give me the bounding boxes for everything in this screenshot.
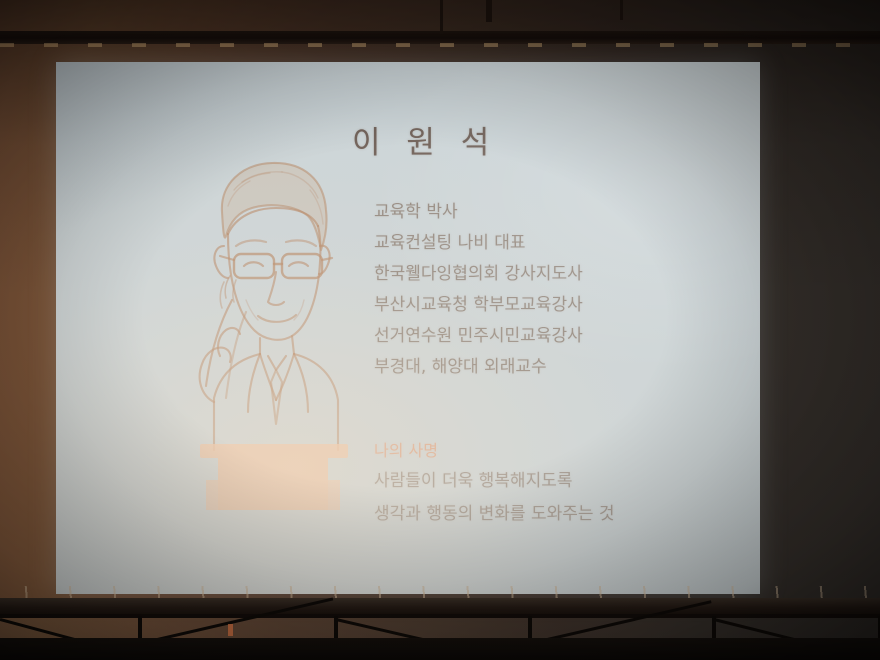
truss-top-rail <box>0 614 880 618</box>
mission-line: 사람들이 더욱 행복해지도록 <box>374 465 714 498</box>
credential-item: 한국웰다잉협의회 강사지도사 <box>374 259 704 290</box>
projection-screen: 이 원 석 교육학 박사 교육컨설팅 나비 대표 한국웰다잉협의회 강사지도사 … <box>56 62 760 594</box>
auditorium-photo: 이 원 석 교육학 박사 교육컨설팅 나비 대표 한국웰다잉협의회 강사지도사 … <box>0 0 880 660</box>
credential-list: 교육학 박사 교육컨설팅 나비 대표 한국웰다잉협의회 강사지도사 부산시교육청… <box>374 197 704 383</box>
credential-item: 선거연수원 민주시민교육강사 <box>374 321 704 352</box>
speaker-caricature-icon <box>176 150 366 510</box>
podium-shape <box>200 444 352 510</box>
slide-title: 이 원 석 <box>352 117 497 162</box>
floor-marker <box>228 624 233 636</box>
rail-hanger <box>620 0 623 20</box>
mission-heading: 나의 사명 <box>374 437 714 465</box>
credential-item: 부경대, 해양대 외래교수 <box>374 352 704 383</box>
rail-hanger <box>486 0 492 22</box>
truss-deck <box>0 598 880 614</box>
slide-content: 이 원 석 교육학 박사 교육컨설팅 나비 대표 한국웰다잉협의회 강사지도사 … <box>56 62 760 594</box>
mission-line: 생각과 행동의 변화를 도와주는 것 <box>374 498 714 531</box>
rail-hanger <box>440 0 443 34</box>
credential-item: 부산시교육청 학부모교육강사 <box>374 290 704 321</box>
credential-item: 교육컨설팅 나비 대표 <box>374 228 704 259</box>
credential-item: 교육학 박사 <box>374 197 704 228</box>
bottom-truss <box>0 580 880 660</box>
floor-shadow <box>0 638 880 660</box>
ceiling-rail-lights <box>0 43 880 47</box>
mission-section: 나의 사명 사람들이 더욱 행복해지도록 생각과 행동의 변화를 도와주는 것 <box>374 437 714 531</box>
